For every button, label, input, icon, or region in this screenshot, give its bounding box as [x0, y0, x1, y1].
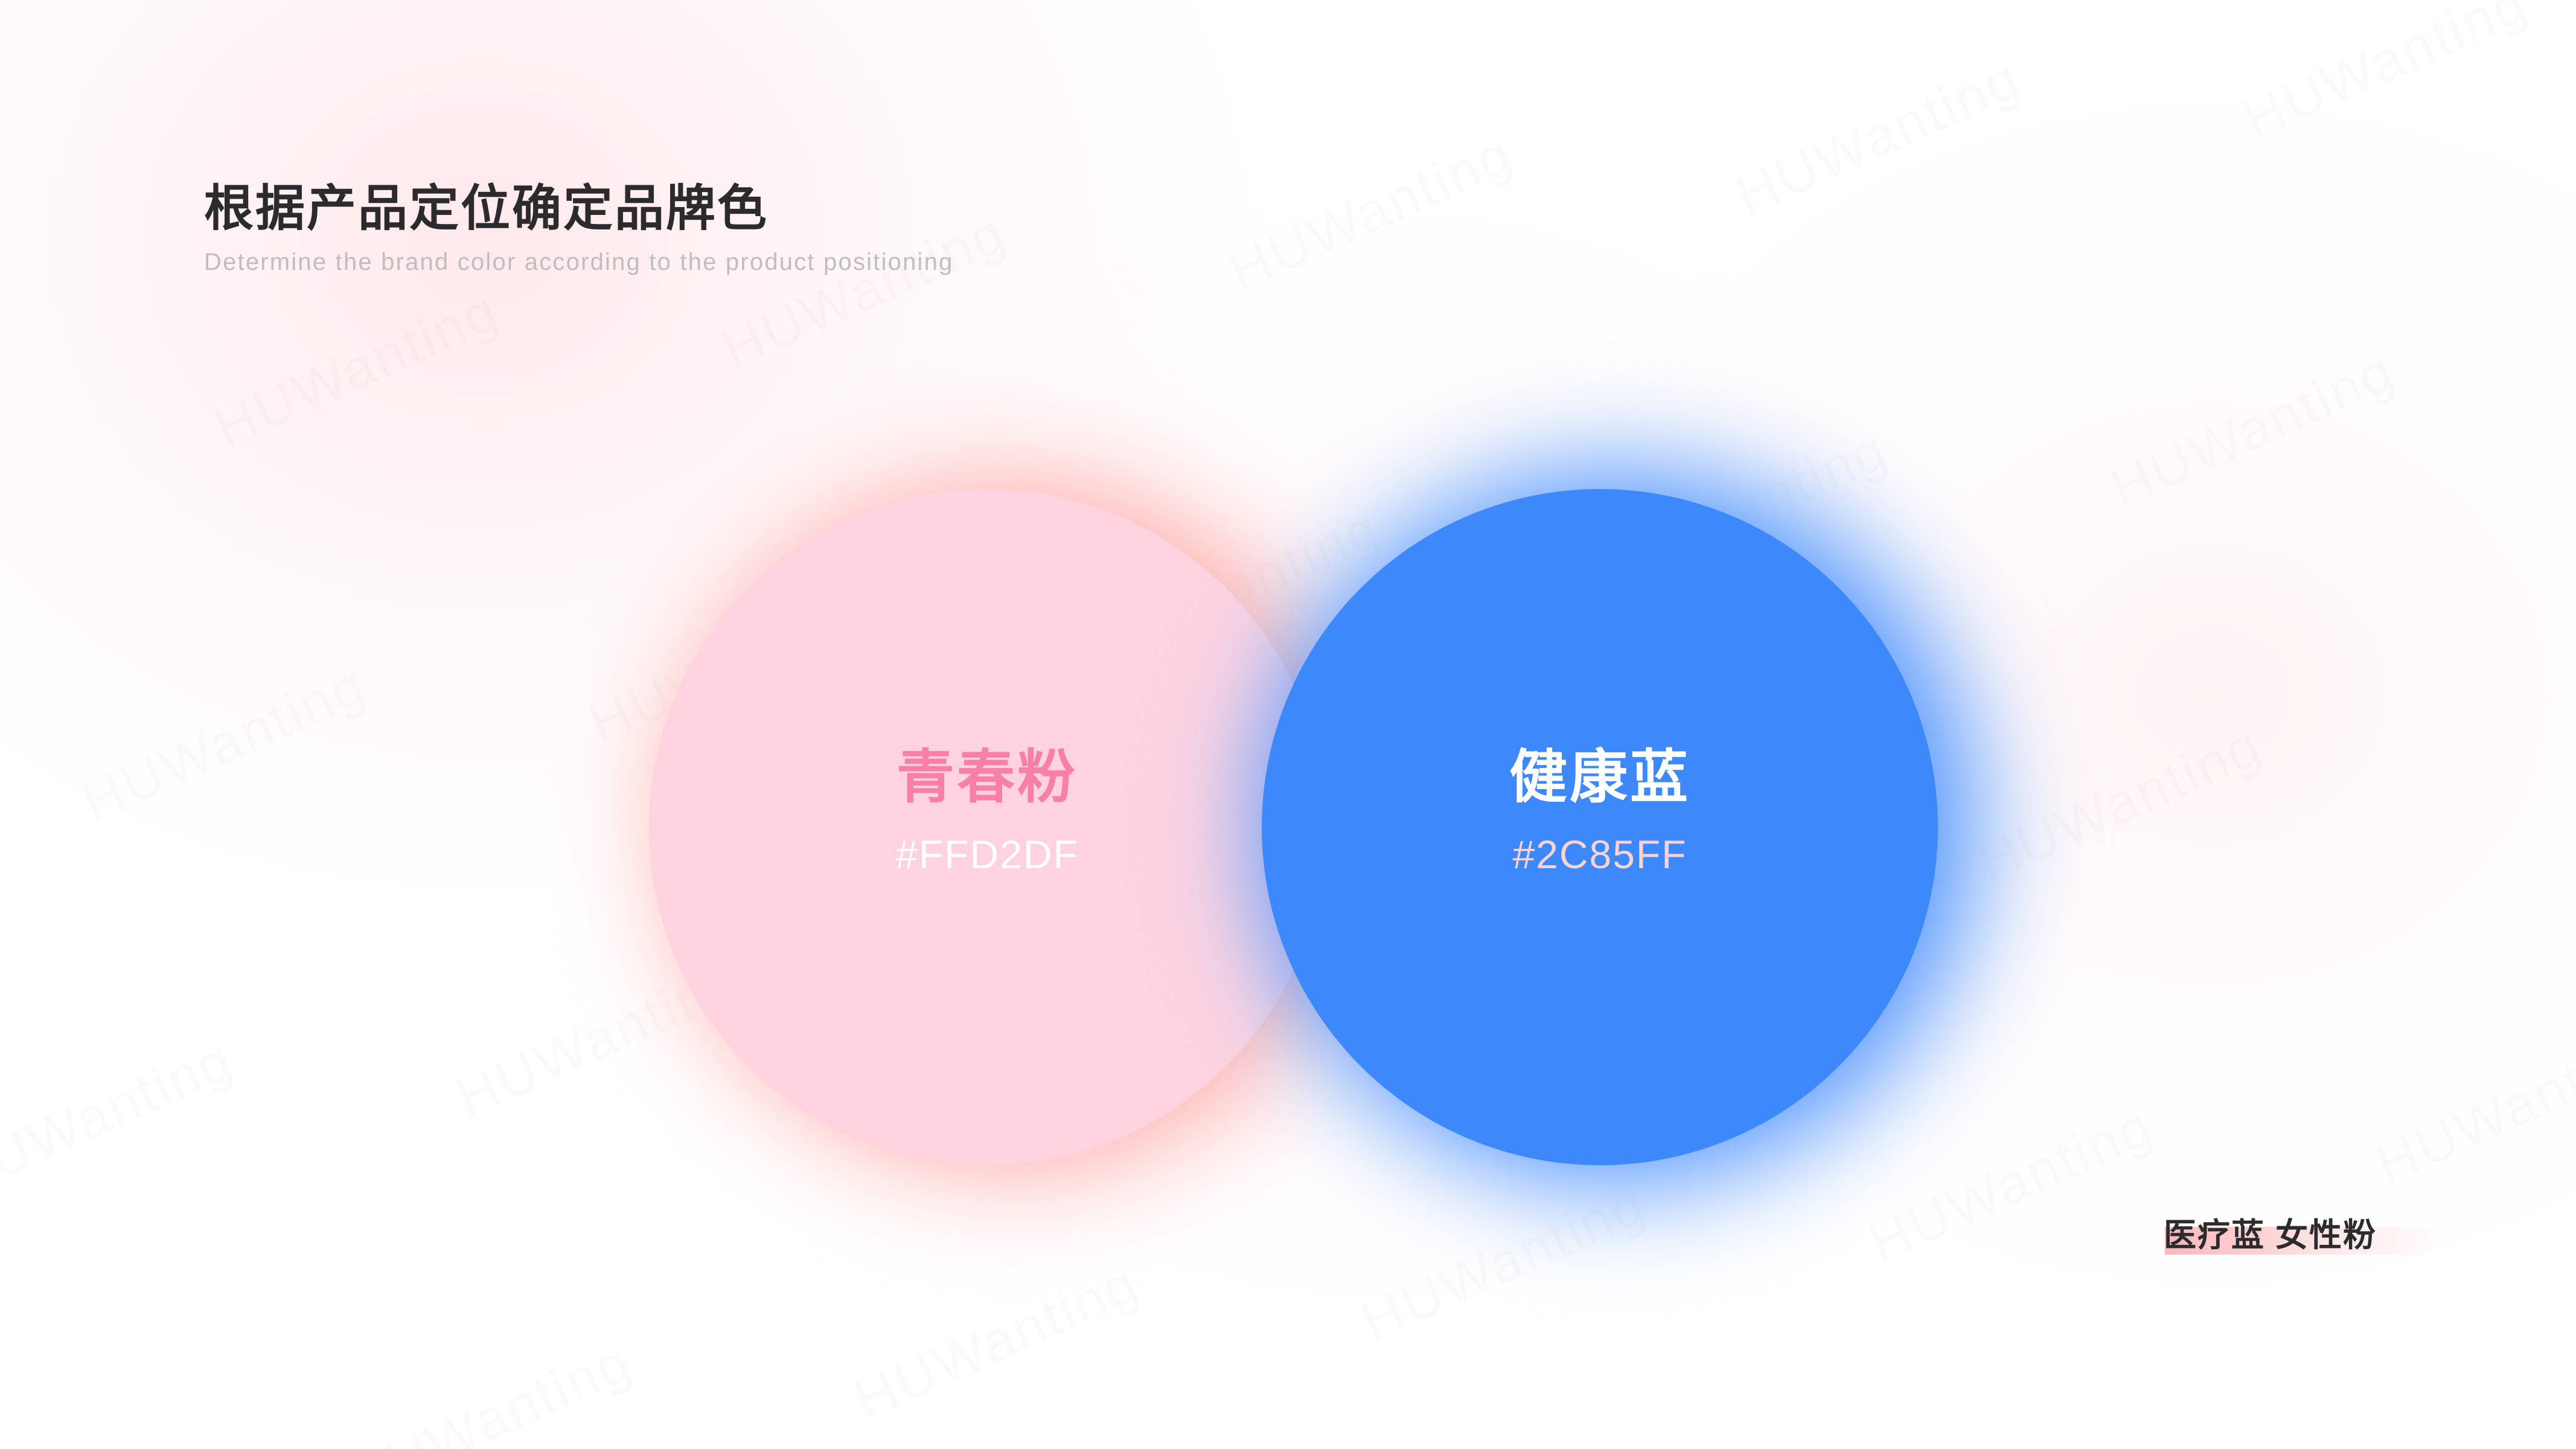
watermark-text: HUWanting — [72, 653, 376, 834]
watermark-text: HUWanting — [2101, 339, 2404, 520]
swatch-hex-youth-pink: #FFD2DF — [895, 833, 1079, 877]
swatch-hex-health-blue: #2C85FF — [1509, 833, 1690, 877]
watermark-text: HUWanting — [0, 1028, 243, 1209]
watermark-text: HUWanting — [1968, 714, 2271, 895]
caption-text: 医疗蓝 女性粉 — [2164, 1208, 2377, 1256]
slide-canvas: HUWanting HUWanting HUWanting HUWanting … — [0, 0, 2576, 1449]
caption-block: 医疗蓝 女性粉 — [2164, 1208, 2377, 1256]
page-subtitle: Determine the brand color according to t… — [204, 248, 954, 277]
swatch-circle-health-blue[interactable]: 健康蓝 #2C85FF — [1262, 489, 1938, 1165]
swatch-circle-youth-pink[interactable]: 青春粉 #FFD2DF — [649, 489, 1325, 1165]
watermark-text: HUWanting — [338, 1329, 641, 1449]
swatch-label-health-blue: 健康蓝 — [1509, 744, 1690, 811]
swatch-label-youth-pink: 青春粉 — [895, 744, 1079, 811]
watermark-text: HUWanting — [1352, 1172, 1655, 1354]
swatch-content-health-blue: 健康蓝 #2C85FF — [1509, 744, 1690, 877]
swatch-content-youth-pink: 青春粉 #FFD2DF — [895, 744, 1079, 877]
header-block: 根据产品定位确定品牌色 Determine the brand color ac… — [204, 181, 954, 277]
watermark-text: HUWanting — [205, 279, 508, 460]
watermark-text: HUWanting — [1727, 46, 2030, 228]
watermark-text: HUWanting — [2367, 1016, 2576, 1197]
watermark-text: HUWanting — [1859, 1094, 2162, 1275]
watermark-text: HUWanting — [845, 1251, 1148, 1432]
page-title: 根据产品定位确定品牌色 — [204, 181, 954, 237]
watermark-text: HUWanting — [1219, 122, 1523, 303]
watermark-text: HUWanting — [2234, 0, 2537, 153]
